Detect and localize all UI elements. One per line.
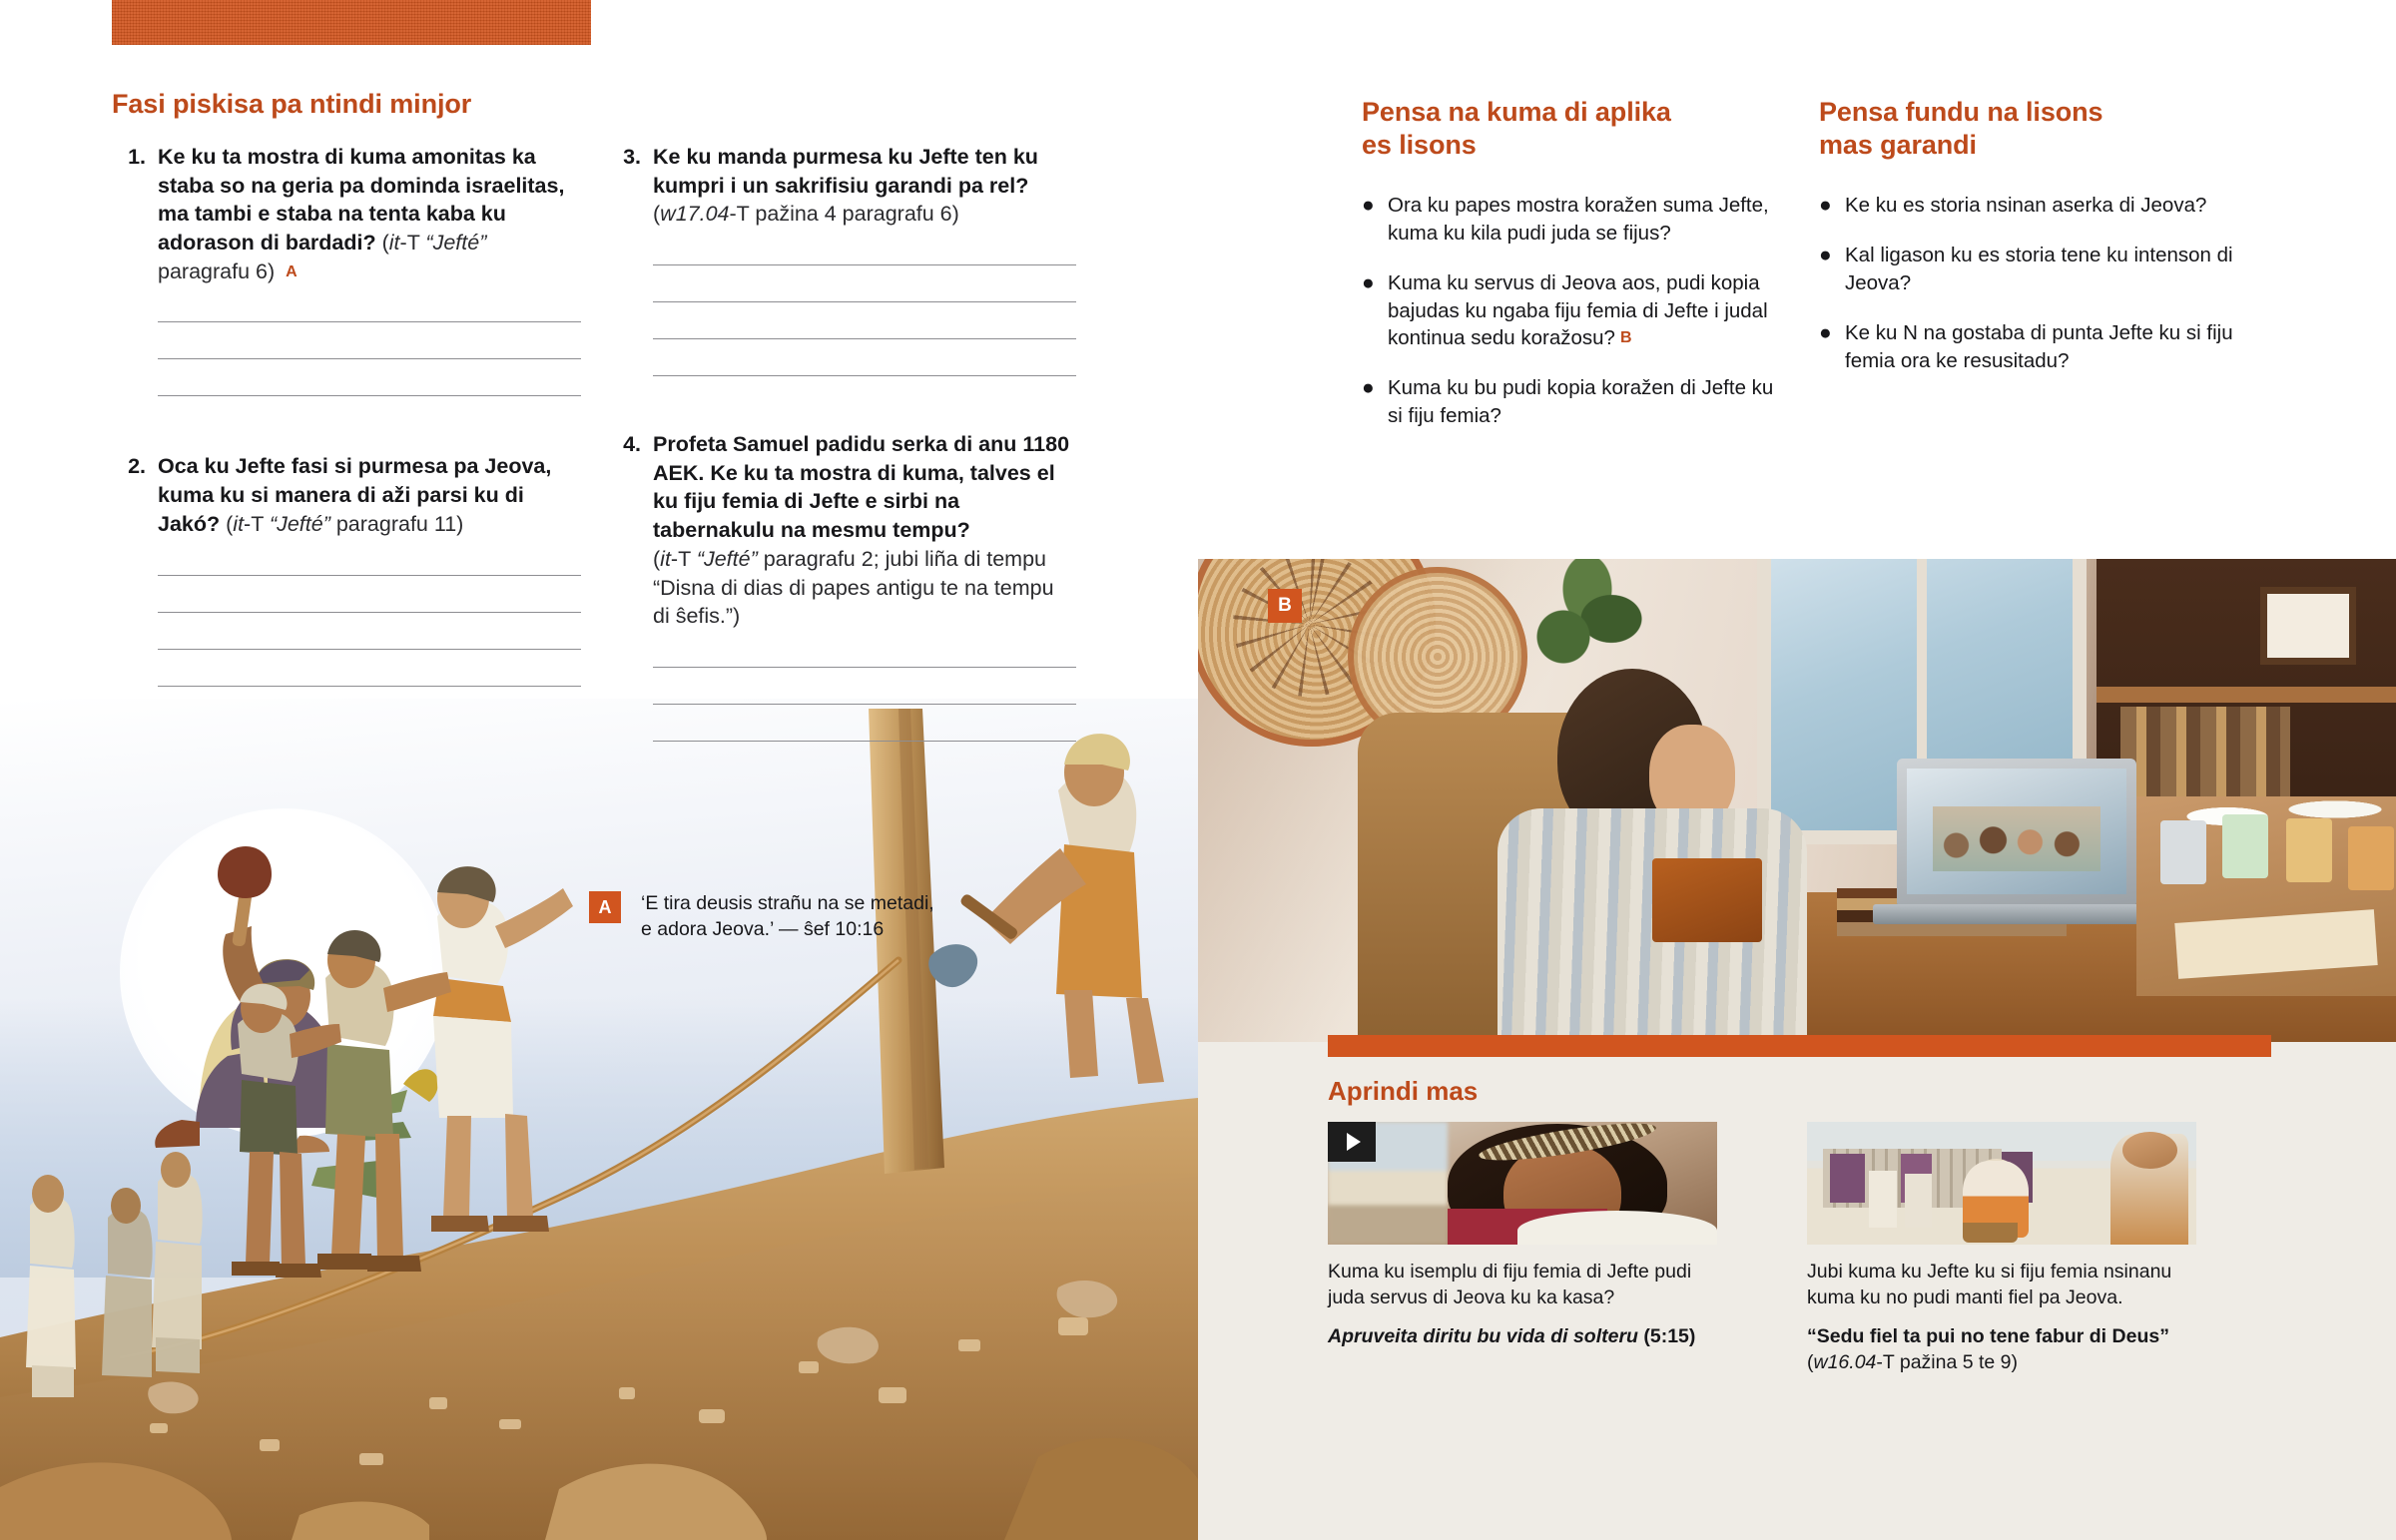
article-thumbnail[interactable] (1807, 1122, 2196, 1245)
card-title-italic: Apruveita diritu bu vida di solteru (1328, 1325, 1638, 1347)
bullet-dot-icon: ● (1362, 192, 1388, 248)
jefte-illustration (0, 699, 1198, 1540)
pole-pulling-scene (0, 699, 1198, 1540)
snack-package-in-hands (1652, 858, 1762, 942)
bullet-text: Kal ligason ku es storia tene ku intenso… (1845, 242, 2248, 297)
apply-title-line-2: es lisons (1362, 129, 1781, 162)
answer-line[interactable] (158, 321, 581, 322)
answer-line[interactable] (158, 686, 581, 687)
bullet-dot-icon: ● (1362, 374, 1388, 430)
card-description: Jubi kuma ku Jefte ku si fiju femia nsin… (1807, 1259, 2196, 1311)
play-icon[interactable] (1328, 1122, 1376, 1162)
open-book (1517, 1211, 1717, 1245)
bullet-dot-icon: ● (1362, 269, 1388, 353)
answer-line[interactable] (653, 338, 1076, 339)
question-body: Ke ku manda purmesa ku Jefte ten ku kump… (653, 143, 1076, 229)
question-number: 4. (607, 430, 653, 631)
supply-item (2222, 814, 2268, 878)
answer-line[interactable] (653, 301, 1076, 302)
footnote-marker-a[interactable]: A (286, 261, 298, 282)
card-title-text: “Sedu fiel ta pui no tene fabur di Deus” (1807, 1325, 2169, 1347)
apply-bullet-list: ● Ora ku papes mostra koražen suma Jefte… (1362, 192, 1781, 430)
ref-lang-suffix: -T (730, 202, 756, 226)
answer-lines-q4[interactable] (653, 667, 1076, 742)
bullet-text: Kuma ku bu pudi kopia koražen di Jefte k… (1388, 374, 1781, 430)
footnote-badge-a: A (589, 891, 621, 923)
video-thumbnail[interactable] (1328, 1122, 1717, 1245)
bullet-text: Kuma ku servus di Jeova aos, pudi kopia … (1388, 269, 1781, 353)
ref-pub-code: it (233, 512, 244, 536)
greeting-card (2174, 909, 2377, 979)
ref-lang-suffix: -T (671, 547, 697, 571)
publication-spread: Fasi piskisa pa ntindi minjor 1. Ke ku t… (0, 0, 2396, 1540)
footnote-marker-b[interactable]: B (1620, 327, 1632, 349)
answer-line[interactable] (158, 358, 581, 359)
question-number: 3. (607, 143, 653, 229)
ref-article-title: “Jefté” (697, 547, 758, 571)
answer-lines-q1[interactable] (158, 321, 581, 396)
learn-more-title: Aprindi mas (1328, 1076, 1478, 1107)
footnote-line-2: e adora Jeova.’ — ŝef 10:16 (641, 917, 934, 943)
answer-line[interactable] (653, 375, 1076, 376)
question-item: 2. Oca ku Jefte fasi si purmesa pa Jeova… (112, 452, 581, 538)
question-column-left: 1. Ke ku ta mostra di kuma amonitas ka s… (112, 143, 581, 687)
tabernacle-curtain (1830, 1154, 1865, 1203)
video-call-participants (1933, 806, 2099, 872)
bullet-copy: Kuma ku bu pudi kopia koražen di Jefte k… (1388, 376, 1773, 427)
question-number: 2. (112, 452, 158, 538)
question-reference: (it-T “Jefté” paragrafu 11) (226, 512, 463, 536)
photo-badge-b: B (1268, 589, 1302, 623)
basket-prop (1963, 1223, 2018, 1243)
figure-girl (1869, 1171, 1896, 1228)
jefte-head (2122, 1132, 2177, 1169)
list-item: ● Ora ku papes mostra koražen suma Jefte… (1362, 192, 1781, 248)
ref-article-title: “Jefté” (425, 231, 486, 255)
ref-paragraph: paragrafu 6) (158, 259, 275, 283)
question-reference: (w17.04-T pažina 4 paragrafu 6) (653, 202, 959, 226)
list-item: ● Kuma ku bu pudi kopia koražen di Jefte… (1362, 374, 1781, 430)
bullet-copy: Ora ku papes mostra koražen suma Jefte, … (1388, 194, 1769, 245)
list-item: ● Kuma ku servus di Jeova aos, pudi kopi… (1362, 269, 1781, 353)
answer-line[interactable] (653, 667, 1076, 668)
ref-pub-code: w17.04 (660, 202, 729, 226)
learn-more-orange-bar (1328, 1035, 2271, 1057)
deeper-title-line-1: Pensa fundu na lisons (1819, 96, 2248, 129)
bullet-dot-icon: ● (1819, 192, 1845, 220)
answer-line[interactable] (653, 704, 1076, 705)
supply-item (2286, 818, 2332, 882)
question-body: Oca ku Jefte fasi si purmesa pa Jeova, k… (158, 452, 581, 538)
card-title-duration: (5:15) (1638, 1325, 1695, 1347)
ref-pub-code: it (660, 547, 671, 571)
list-item: ● Ke ku es storia nsinan aserka di Jeova… (1819, 192, 2248, 220)
figure-girl (1905, 1174, 1932, 1228)
footnote-a: A ‘E tira deusis strañu na se metadi, e … (589, 891, 934, 943)
bullet-copy: Kuma ku servus di Jeova aos, pudi kopia … (1388, 271, 1768, 350)
bullet-text: Ora ku papes mostra koražen suma Jefte, … (1388, 192, 1781, 248)
top-orange-bar (112, 0, 591, 45)
ref-pub-code: w16.04 (1814, 1351, 1877, 1373)
ref-lang-suffix: -T (400, 231, 426, 255)
card-title: Apruveita diritu bu vida di solteru (5:1… (1328, 1323, 1717, 1349)
card-title: “Sedu fiel ta pui no tene fabur di Deus” (1807, 1323, 2196, 1349)
supply-item (2348, 826, 2394, 890)
deeper-bullet-list: ● Ke ku es storia nsinan aserka di Jeova… (1819, 192, 2248, 375)
house-plant (1527, 559, 1647, 673)
laptop-keyboard (1873, 904, 2162, 924)
list-item: ● Ke ku N na gostaba di punta Jefte ku s… (1819, 319, 2248, 375)
ref-paragraph: paragrafu 11) (330, 512, 463, 536)
answer-line[interactable] (158, 612, 581, 613)
question-item: 1. Ke ku ta mostra di kuma amonitas ka s… (112, 143, 581, 285)
card-reference: (w16.04-T pažina 5 te 9) (1807, 1349, 2196, 1375)
deeper-lessons-column: Pensa fundu na lisons mas garandi ● Ke k… (1819, 96, 2248, 397)
question-item: 3. Ke ku manda purmesa ku Jefte ten ku k… (607, 143, 1076, 229)
deeper-title-line-2: mas garandi (1819, 129, 2248, 162)
bullet-text: Ke ku N na gostaba di punta Jefte ku si … (1845, 319, 2248, 375)
ref-article-title: “Jefté” (270, 512, 330, 536)
answer-line[interactable] (158, 649, 581, 650)
care-package-box (2136, 796, 2396, 996)
apply-lessons-column: Pensa na kuma di aplika es lisons ● Ora … (1362, 96, 1781, 452)
ref-open-paren: ( (382, 231, 389, 255)
picture-frame (2260, 587, 2356, 665)
learn-more-card-article[interactable]: Jubi kuma ku Jefte ku si fiju femia nsin… (1807, 1122, 2196, 1375)
question-item: 4. Profeta Samuel padidu serka di anu 11… (607, 430, 1076, 631)
card-description: Kuma ku isemplu di fiju femia di Jefte p… (1328, 1259, 1717, 1311)
shelf-board (2096, 687, 2396, 703)
question-number: 1. (112, 143, 158, 285)
answer-lines-q2[interactable] (158, 575, 581, 687)
list-item: ● Kal ligason ku es storia tene ku inten… (1819, 242, 2248, 297)
question-text: Profeta Samuel padidu serka di anu 1180 … (653, 432, 1069, 542)
answer-line[interactable] (653, 741, 1076, 742)
answer-line[interactable] (653, 264, 1076, 265)
question-body: Profeta Samuel padidu serka di anu 1180 … (653, 430, 1076, 631)
question-reference: (it-T “Jefté” paragrafu 2; jubi liña di … (653, 547, 1054, 628)
question-body: Ke ku ta mostra di kuma amonitas ka stab… (158, 143, 581, 285)
sister-video-call-photo: B (1198, 559, 2396, 1042)
footnote-text: ‘E tira deusis strañu na se metadi, e ad… (641, 891, 934, 943)
bullet-dot-icon: ● (1819, 242, 1845, 297)
answer-line[interactable] (158, 575, 581, 576)
ref-pub-code: it (389, 231, 400, 255)
supply-item (2160, 820, 2206, 884)
ref-paragraph: pažina 4 paragrafu 6) (755, 202, 958, 226)
bullet-dot-icon: ● (1819, 319, 1845, 375)
question-text: Ke ku manda purmesa ku Jefte ten ku kump… (653, 145, 1038, 198)
answer-lines-q3[interactable] (653, 264, 1076, 376)
bullet-text: Ke ku es storia nsinan aserka di Jeova? (1845, 192, 2206, 220)
laptop (1897, 759, 2136, 908)
learn-more-cards: Kuma ku isemplu di fiju femia di Jefte p… (1328, 1122, 2276, 1375)
question-text: Ke ku ta mostra di kuma amonitas ka stab… (158, 145, 564, 255)
laptop-screen (1907, 769, 2126, 894)
apply-title-line-1: Pensa na kuma di aplika (1362, 96, 1781, 129)
ref-lang-suffix: -T (244, 512, 270, 536)
ref-pages: -T pažina 5 te 9) (1876, 1351, 2018, 1373)
page-title: Fasi piskisa pa ntindi minjor (112, 88, 471, 121)
question-column-right: 3. Ke ku manda purmesa ku Jefte ten ku k… (607, 143, 1076, 742)
footnote-line-1: ‘E tira deusis strañu na se metadi, (641, 891, 934, 917)
answer-line[interactable] (158, 395, 581, 396)
learn-more-card-video[interactable]: Kuma ku isemplu di fiju femia di Jefte p… (1328, 1122, 1717, 1375)
